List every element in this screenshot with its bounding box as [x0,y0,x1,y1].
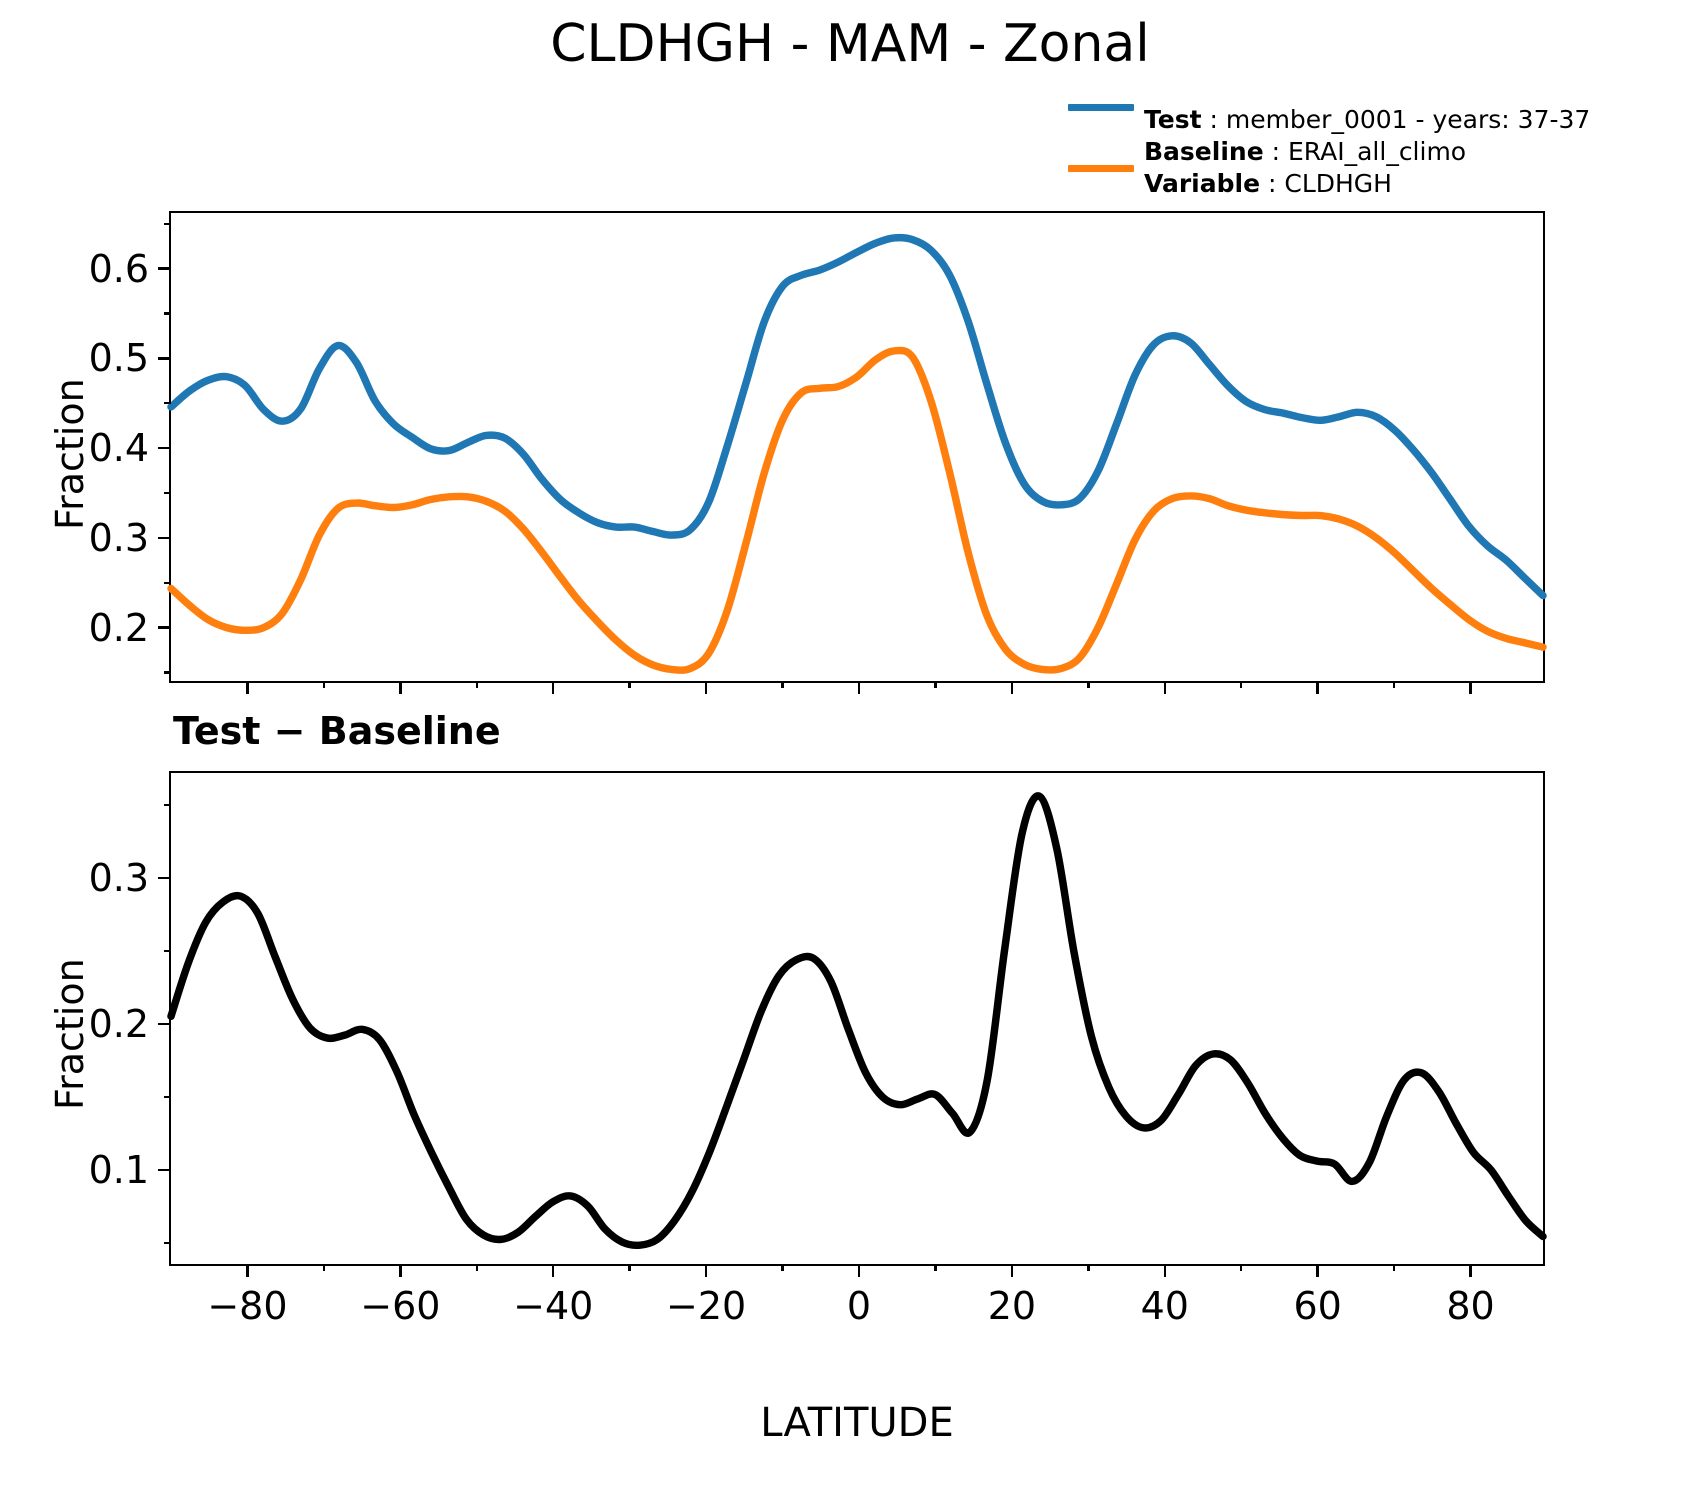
x-tick-bottom-3 [705,1264,707,1277]
y-minor-tick-top-4 [164,312,171,314]
x-tick-top-4 [858,681,860,694]
x-minor-tick-top-5 [934,681,936,688]
y-minor-tick-top-1 [164,582,171,584]
y-ticklabel-top-0: 0.2 [89,606,149,650]
y-ticklabel-top-2: 0.4 [89,426,149,470]
y-minor-tick-top-0 [164,671,171,673]
legend-label-variable: Variable : CLDHGH [1144,168,1466,200]
x-ticklabel-bottom-5: 20 [988,1284,1036,1328]
y-minor-tick-bottom-3 [164,804,171,806]
bottom-panel-plot-area [171,773,1543,1264]
legend-label-test-bold: Test [1144,105,1202,134]
x-tick-top-3 [705,681,707,694]
x-tick-bottom-8 [1469,1264,1471,1277]
top-panel-plot-area [171,213,1543,681]
y-ticklabel-top-1: 0.3 [89,516,149,560]
x-ticklabel-bottom-8: 80 [1446,1284,1494,1328]
x-minor-tick-bottom-6 [1087,1264,1089,1271]
series-line-0 [171,796,1543,1245]
figure-canvas: CLDHGH - MAM - Zonal Test : member_0001 … [0,0,1700,1496]
y-tick-top-3 [158,357,171,359]
y-ticklabel-bottom-0: 0.1 [89,1148,149,1192]
x-tick-bottom-4 [858,1264,860,1277]
legend-label-baseline-bold: Baseline [1144,137,1264,166]
y-ticklabel-bottom-1: 0.2 [89,1002,149,1046]
x-ticklabel-bottom-2: −40 [513,1284,593,1328]
x-minor-tick-top-2 [476,681,478,688]
legend-swatch-test-cell [1058,104,1144,111]
y-ticklabel-top-4: 0.6 [89,247,149,291]
legend-label-test-rest: : member_0001 - years: 37-37 [1202,105,1591,134]
bottom-panel-axes: 0.10.20.3−80−60−40−20020406080 [169,771,1545,1266]
x-tick-top-1 [399,681,401,694]
x-tick-bottom-2 [552,1264,554,1277]
legend-swatch-baseline-cell [1058,165,1144,172]
legend-label-variable-rest: : CLDHGH [1260,169,1392,198]
x-minor-tick-top-3 [628,681,630,688]
x-tick-top-7 [1316,681,1318,694]
top-panel-axes: 0.20.30.40.50.6 [169,211,1545,683]
x-tick-top-6 [1164,681,1166,694]
y-minor-tick-bottom-2 [164,950,171,952]
y-minor-tick-top-3 [164,402,171,404]
figure-title: CLDHGH - MAM - Zonal [0,14,1700,74]
legend-label-test: Test : member_0001 - years: 37-37 [1144,104,1590,136]
x-minor-tick-top-4 [781,681,783,688]
x-ticklabel-bottom-7: 60 [1293,1284,1341,1328]
y-tick-top-4 [158,267,171,269]
x-minor-tick-bottom-4 [781,1264,783,1271]
x-minor-tick-top-1 [323,681,325,688]
x-tick-top-2 [552,681,554,694]
x-ticklabel-bottom-3: −20 [666,1284,746,1328]
x-tick-bottom-5 [1011,1264,1013,1277]
legend: Test : member_0001 - years: 37-37 Baseli… [1058,104,1658,200]
x-tick-bottom-6 [1164,1264,1166,1277]
x-minor-tick-top-7 [1240,681,1242,688]
legend-label-variable-bold: Variable [1144,169,1260,198]
legend-label-baseline-rest: : ERAI_all_climo [1264,137,1466,166]
x-ticklabel-bottom-1: −60 [360,1284,440,1328]
y-minor-tick-top-5 [164,223,171,225]
legend-label-baseline: Baseline : ERAI_all_climo [1144,136,1466,168]
y-tick-bottom-0 [158,1169,171,1171]
y-tick-top-2 [158,447,171,449]
y-minor-tick-bottom-1 [164,1096,171,1098]
y-ticklabel-bottom-2: 0.3 [89,856,149,900]
x-minor-tick-bottom-5 [934,1264,936,1271]
x-minor-tick-bottom-7 [1240,1264,1242,1271]
x-tick-top-8 [1469,681,1471,694]
x-minor-tick-top-8 [1393,681,1395,688]
y-tick-bottom-1 [158,1023,171,1025]
x-tick-top-5 [1011,681,1013,694]
legend-label-baseline-block: Baseline : ERAI_all_climo Variable : CLD… [1144,136,1466,200]
legend-entry-baseline: Baseline : ERAI_all_climo Variable : CLD… [1058,136,1658,200]
x-tick-top-0 [246,681,248,694]
bottom-panel-subtitle: Test − Baseline [173,709,501,753]
x-minor-tick-top-6 [1087,681,1089,688]
y-minor-tick-top-2 [164,492,171,494]
x-tick-bottom-0 [246,1264,248,1277]
series-line-0 [171,238,1543,596]
x-tick-bottom-1 [399,1264,401,1277]
x-tick-bottom-7 [1316,1264,1318,1277]
x-minor-tick-bottom-1 [323,1264,325,1271]
y-tick-top-0 [158,626,171,628]
y-tick-bottom-2 [158,877,171,879]
x-axis-label: LATITUDE [169,1400,1545,1446]
x-ticklabel-bottom-4: 0 [847,1284,871,1328]
legend-entry-test: Test : member_0001 - years: 37-37 [1058,104,1658,136]
x-ticklabel-bottom-6: 40 [1141,1284,1189,1328]
x-minor-tick-bottom-8 [1393,1264,1395,1271]
legend-swatch-test-line [1068,104,1134,111]
x-minor-tick-bottom-3 [628,1264,630,1271]
x-ticklabel-bottom-0: −80 [207,1284,287,1328]
y-minor-tick-bottom-0 [164,1242,171,1244]
y-ticklabel-top-3: 0.5 [89,336,149,380]
top-panel-ylabel: Fraction [48,378,92,530]
x-minor-tick-bottom-2 [476,1264,478,1271]
bottom-panel-ylabel: Fraction [48,958,92,1110]
y-tick-top-1 [158,537,171,539]
legend-swatch-baseline-line [1068,165,1134,172]
